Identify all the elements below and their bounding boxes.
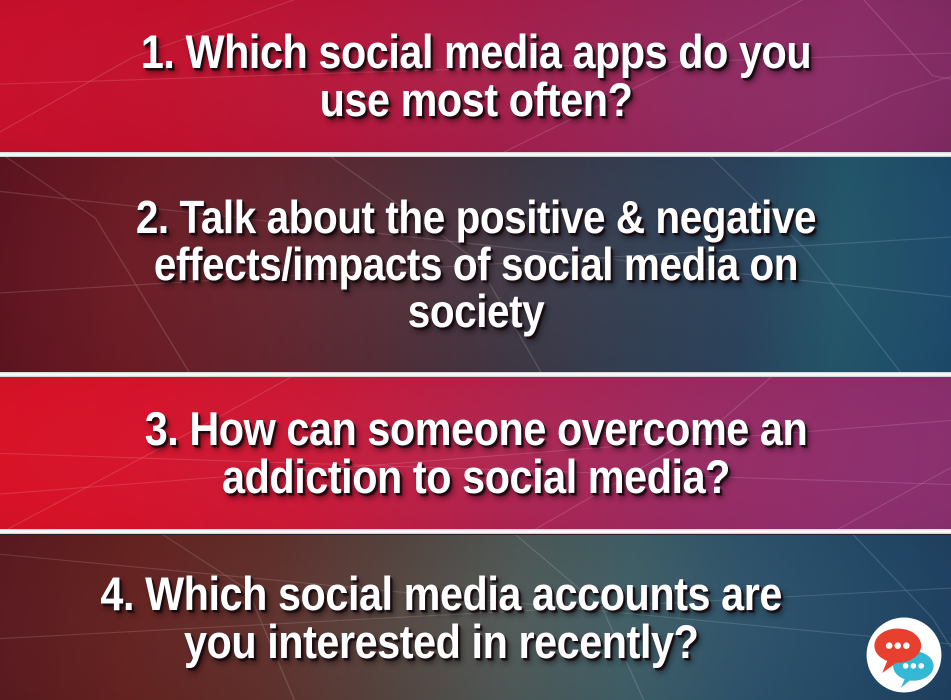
question-3-line-2: addiction to social media? — [222, 450, 730, 503]
question-band-4: 4. Which social media accounts are you i… — [0, 535, 951, 700]
question-4-line-2: you interested in recently? — [184, 615, 698, 668]
question-1-line-1: 1. Which social media apps do you — [140, 25, 810, 78]
divider-2 — [0, 372, 951, 377]
divider-3 — [0, 529, 951, 534]
question-3-line-1: 3. How can someone overcome an — [144, 402, 807, 455]
question-2-text: 2. Talk about the positive & negative ef… — [59, 194, 891, 335]
question-band-3: 3. How can someone overcome an addiction… — [0, 377, 951, 529]
question-4-line-1: 4. Which social media accounts are — [100, 567, 782, 620]
question-band-1: 1. Which social media apps do you use mo… — [0, 0, 951, 152]
question-1-line-2: use most often? — [319, 73, 632, 126]
question-band-2: 2. Talk about the positive & negative ef… — [0, 157, 951, 372]
question-4-text: 4. Which social media accounts are you i… — [57, 570, 894, 666]
question-poster: 1. Which social media apps do you use mo… — [0, 0, 951, 700]
question-2-line-2: effects/impacts of social media on — [153, 238, 797, 290]
divider-1 — [0, 152, 951, 157]
question-1-text: 1. Which social media apps do you use mo… — [59, 28, 891, 124]
chat-bubbles-logo — [865, 616, 943, 694]
question-3-text: 3. How can someone overcome an addiction… — [59, 405, 891, 501]
question-2-line-1: 2. Talk about the positive & negative — [135, 191, 815, 243]
question-2-line-3: society — [407, 285, 543, 337]
